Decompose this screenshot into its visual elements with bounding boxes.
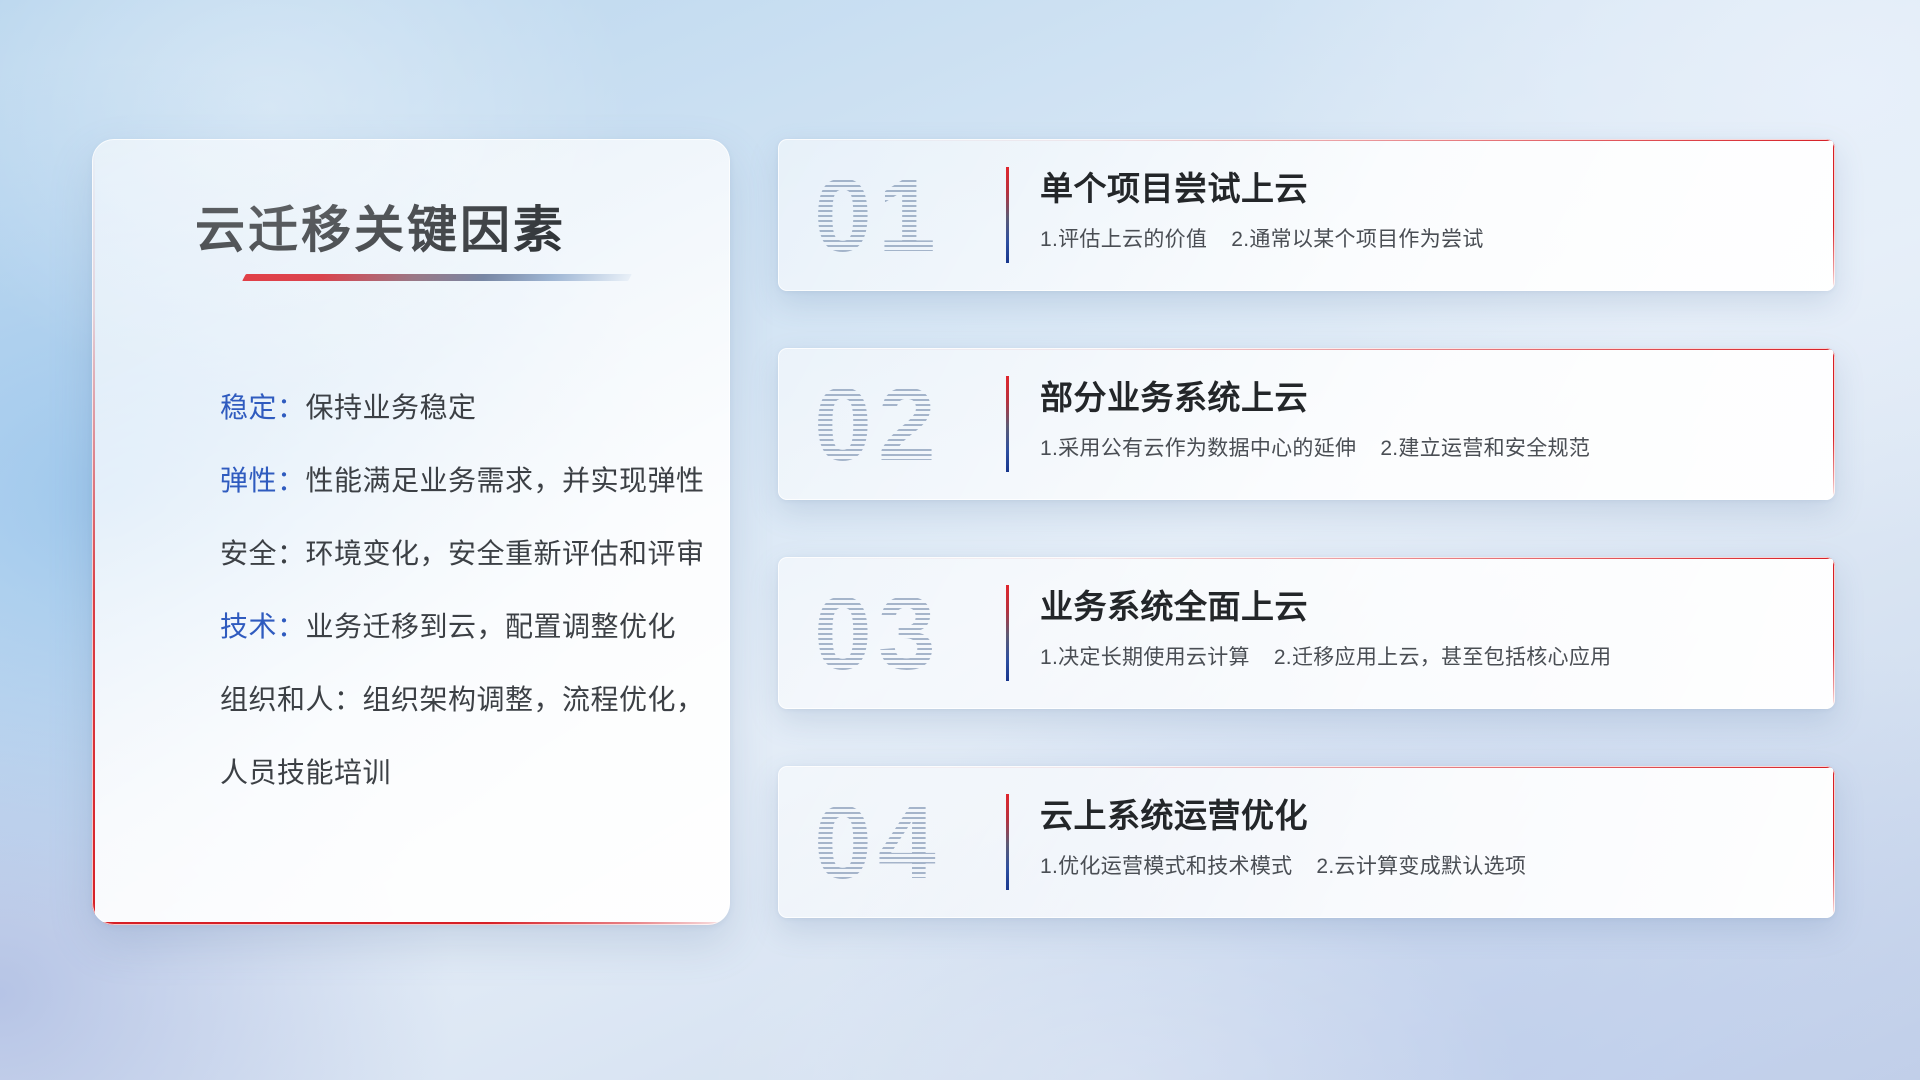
factor-label: 技术： — [220, 611, 306, 642]
card-accent-top-border — [778, 139, 1835, 141]
factor-text: 组织架构调整，流程优化， — [363, 684, 705, 715]
stage-point-1: 1.优化运营模式和技术模式 — [1040, 855, 1292, 878]
stage-title: 云上系统运营优化 — [1040, 789, 1308, 837]
card-accent-right-border — [1833, 766, 1835, 918]
stage-number-text: 01 — [814, 155, 982, 277]
card-divider-bar — [1006, 585, 1009, 681]
key-factors-panel: 云迁移关键因素 稳定：保持业务稳定 弹性：性能满足业务需求，并实现弹性 安全：环… — [92, 139, 730, 925]
factor-list: 稳定：保持业务稳定 弹性：性能满足业务需求，并实现弹性 安全：环境变化，安全重新… — [220, 371, 694, 809]
factor-text: 性能满足业务需求，并实现弹性 — [306, 465, 705, 496]
stage-card-02[interactable]: 02 部分业务系统上云 1.采用公有云作为数据中心的延伸2.建立运营和安全规范 — [778, 348, 1835, 500]
factor-item-organization: 组织和人：组织架构调整，流程优化， — [220, 663, 694, 736]
stage-number-text: 03 — [814, 573, 982, 695]
stage-number-watermark: 01 — [814, 155, 982, 277]
card-accent-right-border — [1833, 139, 1835, 291]
stage-description: 1.评估上云的价值2.通常以某个项目作为尝试 — [1040, 223, 1484, 253]
stage-number-text: 04 — [814, 782, 982, 904]
slide-canvas: 云迁移关键因素 稳定：保持业务稳定 弹性：性能满足业务需求，并实现弹性 安全：环… — [0, 0, 1920, 1080]
stage-title: 部分业务系统上云 — [1040, 371, 1308, 419]
stage-number-text: 02 — [814, 364, 982, 486]
card-divider-bar — [1006, 376, 1009, 472]
stage-number-watermark: 02 — [814, 364, 982, 486]
stage-point-2: 2.通常以某个项目作为尝试 — [1231, 228, 1483, 251]
stage-point-2: 2.云计算变成默认选项 — [1316, 855, 1526, 878]
title-underline-rule — [242, 274, 632, 281]
stage-card-04[interactable]: 04 云上系统运营优化 1.优化运营模式和技术模式2.云计算变成默认选项 — [778, 766, 1835, 918]
factor-text: 业务迁移到云，配置调整优化 — [306, 611, 677, 642]
panel-accent-bottom-border — [92, 922, 730, 925]
card-accent-right-border — [1833, 348, 1835, 500]
factor-label: 弹性： — [220, 465, 306, 496]
stage-point-1: 1.决定长期使用云计算 — [1040, 646, 1250, 669]
page-title: 云迁移关键因素 — [195, 190, 566, 262]
factor-label: 安全： — [220, 538, 306, 569]
factor-item-technology: 技术：业务迁移到云，配置调整优化 — [220, 590, 694, 663]
stage-point-2: 2.建立运营和安全规范 — [1380, 437, 1590, 460]
stage-title: 业务系统全面上云 — [1040, 580, 1308, 628]
factor-item-organization-line2: 人员技能培训 — [220, 736, 694, 809]
card-accent-top-border — [778, 557, 1835, 559]
panel-accent-left-border — [92, 139, 95, 925]
stage-point-2: 2.迁移应用上云，甚至包括核心应用 — [1274, 646, 1612, 669]
stage-card-01[interactable]: 01 单个项目尝试上云 1.评估上云的价值2.通常以某个项目作为尝试 — [778, 139, 1835, 291]
card-divider-bar — [1006, 794, 1009, 890]
stage-card-03[interactable]: 03 业务系统全面上云 1.决定长期使用云计算2.迁移应用上云，甚至包括核心应用 — [778, 557, 1835, 709]
factor-text: 环境变化，安全重新评估和评审 — [306, 538, 705, 569]
stage-point-1: 1.采用公有云作为数据中心的延伸 — [1040, 437, 1356, 460]
stage-description: 1.采用公有云作为数据中心的延伸2.建立运营和安全规范 — [1040, 432, 1590, 462]
stage-point-1: 1.评估上云的价值 — [1040, 228, 1207, 251]
card-accent-top-border — [778, 766, 1835, 768]
factor-label: 稳定： — [220, 392, 306, 423]
factor-text: 保持业务稳定 — [306, 392, 477, 423]
stage-number-watermark: 04 — [814, 782, 982, 904]
factor-text: 人员技能培训 — [220, 757, 391, 788]
stage-title: 单个项目尝试上云 — [1040, 162, 1308, 210]
card-accent-right-border — [1833, 557, 1835, 709]
factor-item-elasticity: 弹性：性能满足业务需求，并实现弹性 — [220, 444, 694, 517]
factor-label: 组织和人： — [220, 684, 363, 715]
factor-item-stability: 稳定：保持业务稳定 — [220, 371, 694, 444]
factor-item-security: 安全：环境变化，安全重新评估和评审 — [220, 517, 694, 590]
stage-number-watermark: 03 — [814, 573, 982, 695]
stage-description: 1.优化运营模式和技术模式2.云计算变成默认选项 — [1040, 850, 1526, 880]
stage-description: 1.决定长期使用云计算2.迁移应用上云，甚至包括核心应用 — [1040, 641, 1611, 671]
card-divider-bar — [1006, 167, 1009, 263]
card-accent-top-border — [778, 348, 1835, 350]
